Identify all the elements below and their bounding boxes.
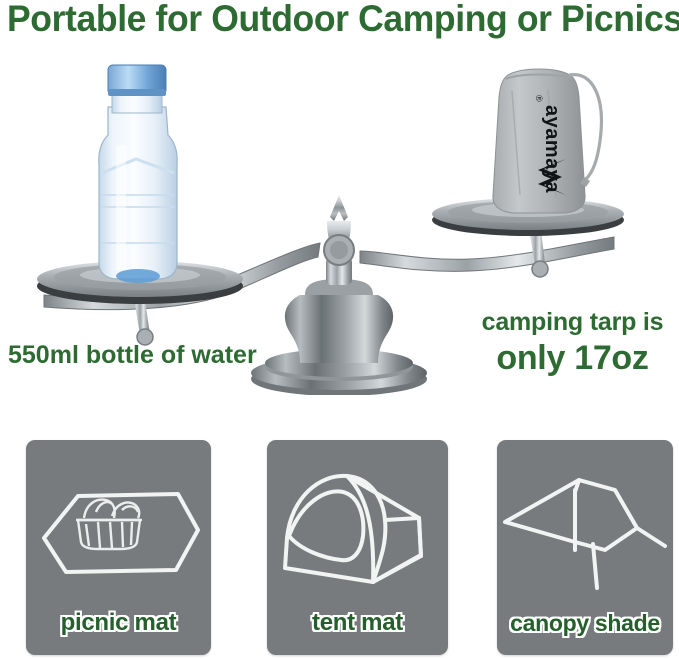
canopy-shade-icon <box>497 446 673 606</box>
water-bottle <box>99 65 177 283</box>
use-case-panel-canopy-shade: canopy shade <box>497 440 673 655</box>
use-case-panels: picnic mat <box>0 440 679 659</box>
camping-tarp-stuff-sack: ayamaya ® <box>493 69 602 213</box>
panel-label-canopy-shade: canopy shade <box>497 610 673 637</box>
left-item-caption: 550ml bottle of water <box>8 341 257 370</box>
tent-mat-icon <box>267 446 448 606</box>
product-infographic: Portable for Outdoor Camping or Picnics <box>0 0 679 659</box>
use-case-panel-tent-mat: tent mat <box>267 440 448 655</box>
tarp-weight-lead: camping tarp is <box>470 307 675 338</box>
picnic-mat-icon <box>26 446 211 606</box>
scale-base <box>251 257 427 395</box>
panel-label-tent-mat: tent mat <box>267 609 448 637</box>
registered-mark: ® <box>534 95 544 102</box>
use-case-panel-picnic-mat: picnic mat <box>26 440 211 655</box>
panel-label-picnic-mat: picnic mat <box>26 609 211 637</box>
page-title: Portable for Outdoor Camping or Picnics <box>7 0 645 41</box>
tarp-weight-value: only 17oz <box>470 338 675 378</box>
right-item-caption: camping tarp is only 17oz <box>470 307 675 378</box>
